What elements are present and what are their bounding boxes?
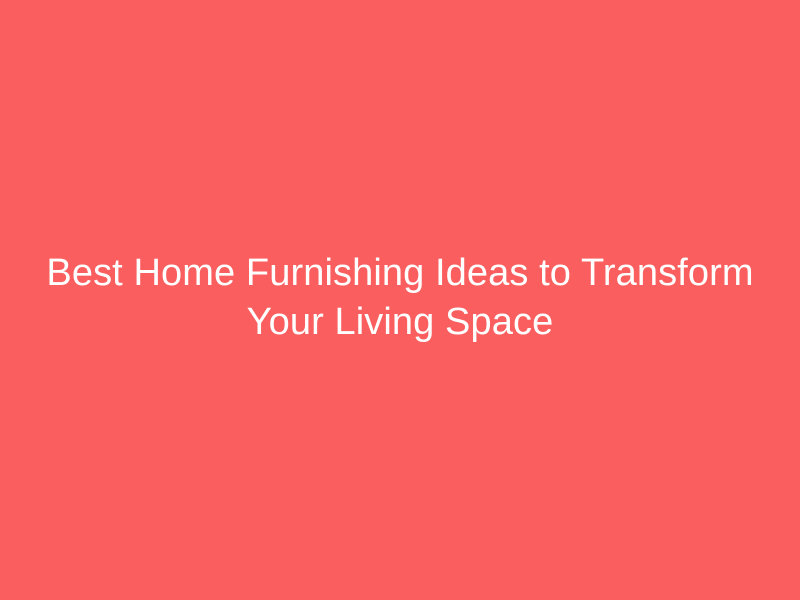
page-title: Best Home Furnishing Ideas to Transform … [30, 249, 770, 347]
hero-banner: Best Home Furnishing Ideas to Transform … [0, 0, 800, 600]
hero-title-block: Best Home Furnishing Ideas to Transform … [30, 249, 770, 347]
